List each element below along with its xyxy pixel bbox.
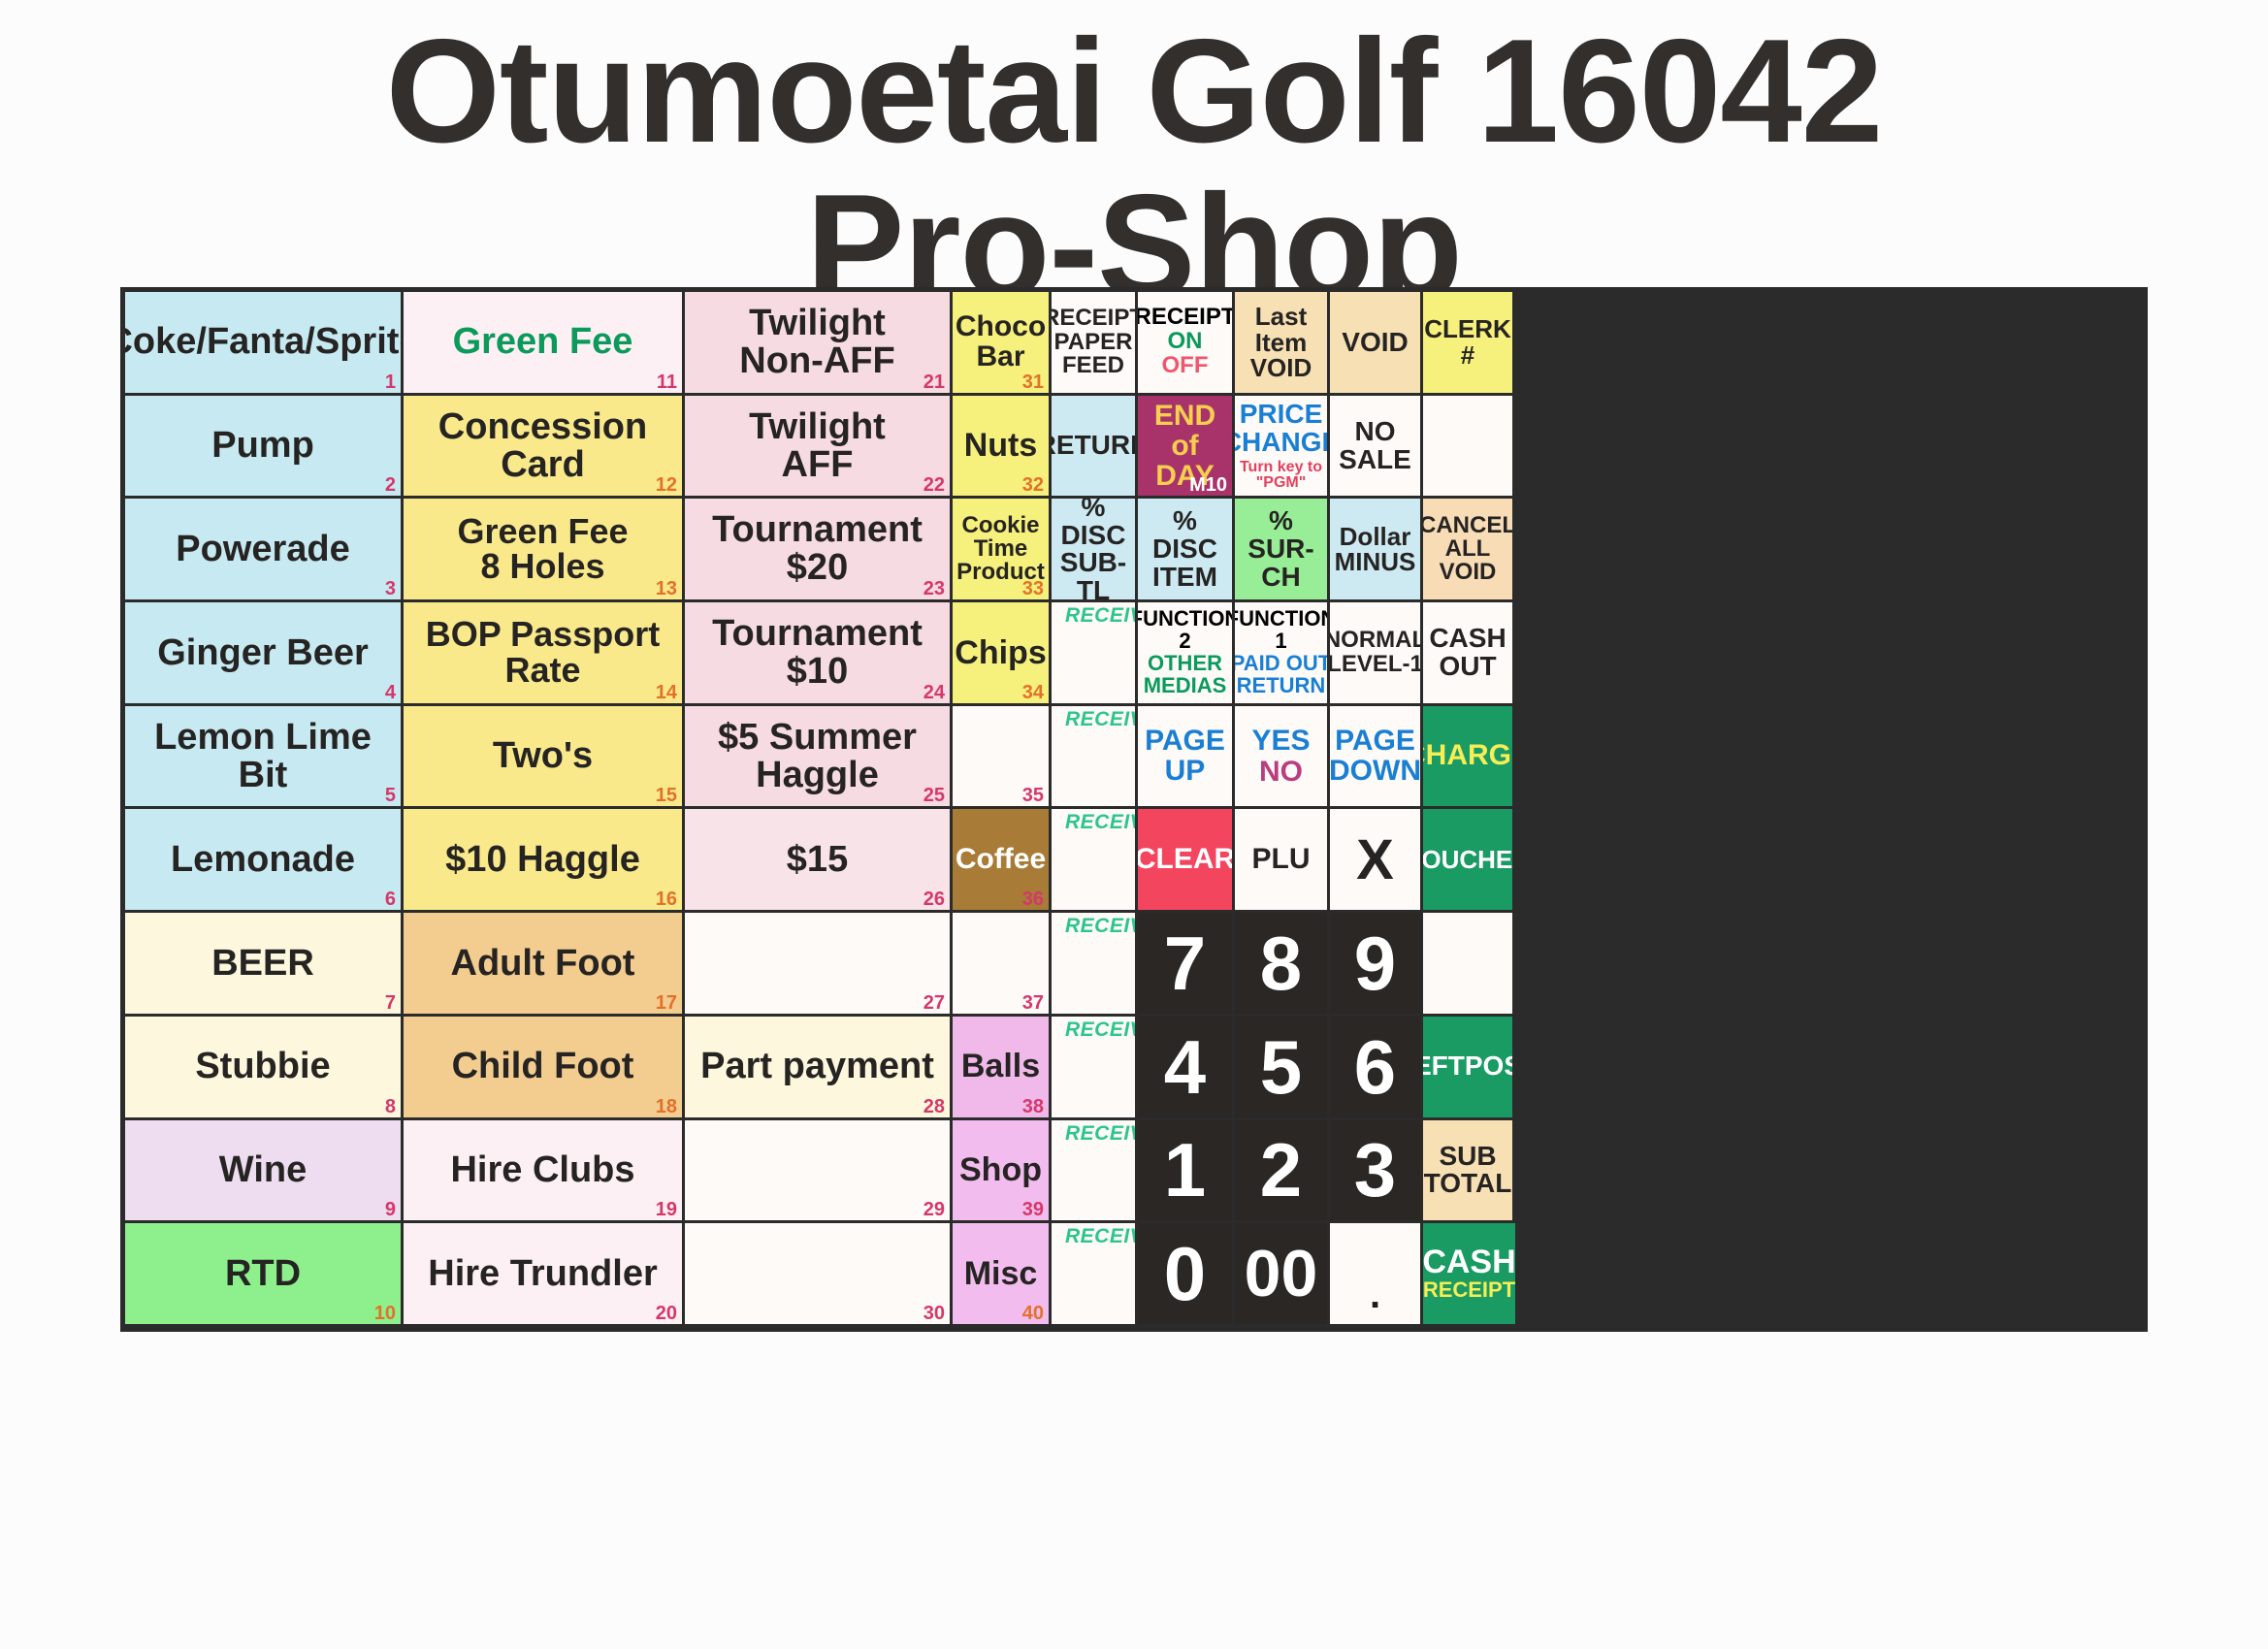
key-numpad-4[interactable]: 4: [1138, 1017, 1235, 1120]
key-label: % SUR-CH: [1238, 507, 1324, 591]
key-label: Green Fee 8 Holes: [457, 514, 628, 585]
key-label-line2: NO: [1259, 757, 1303, 787]
key-powerade[interactable]: Powerade 3: [125, 499, 404, 602]
key-cash-out[interactable]: CASH OUT: [1423, 602, 1515, 706]
key-label: NO SALE: [1339, 418, 1411, 473]
key-number: 7: [385, 993, 396, 1013]
key-lemon-lime-bitters[interactable]: Lemon Lime Bit 5: [125, 706, 404, 810]
key-return[interactable]: RETURN: [1052, 396, 1138, 500]
key-label: 6: [1354, 1029, 1396, 1105]
key-number: 18: [656, 1097, 677, 1116]
key-number: 20: [656, 1304, 677, 1323]
key-label-line3: PAID OUT: [1235, 653, 1330, 675]
key-label: Balls: [961, 1050, 1040, 1083]
key-adult-foot[interactable]: Adult Foot 17: [404, 913, 685, 1017]
key-label: Choco Bar: [956, 312, 1046, 372]
key-label: % DISC ITEM: [1152, 507, 1217, 591]
key-price-change[interactable]: PRICE CHANGE Turn key to "PGM": [1235, 396, 1330, 500]
key-sub-total[interactable]: SUB TOTAL: [1423, 1120, 1515, 1224]
key-number: 37: [1022, 993, 1044, 1013]
received-label: RECEIVED: [1065, 1019, 1138, 1040]
key-number: 23: [923, 579, 945, 598]
key-bop-passport-rate[interactable]: BOP Passport Rate 14: [404, 602, 685, 706]
page-title: Otumoetai Golf 16042 Pro-Shop: [0, 17, 2268, 320]
key-label: 5: [1260, 1029, 1302, 1105]
key-number: 16: [656, 889, 677, 909]
key-label: Lemon Lime Bit: [128, 719, 398, 794]
key-receipt-on-off[interactable]: RECEIPT ON OFF: [1138, 292, 1235, 396]
key-number: 28: [923, 1097, 945, 1116]
key-decimal-point[interactable]: .: [1330, 1223, 1423, 1327]
key-normal-level-1[interactable]: NORMAL LEVEL-1: [1330, 602, 1423, 706]
key-label: $10 Haggle: [445, 841, 640, 879]
key-label: EFTPOS: [1423, 1052, 1515, 1081]
key-label: 9: [1354, 925, 1396, 1001]
key-cookie-time-product[interactable]: Cookie Time Product 33: [953, 499, 1052, 602]
key-label: NORMAL LEVEL-1: [1330, 629, 1423, 676]
key-numpad-2[interactable]: 2: [1235, 1120, 1330, 1224]
key-numpad-9[interactable]: 9: [1330, 913, 1423, 1017]
key-label: CASH OUT: [1429, 625, 1506, 680]
pos-keyboard-page: Otumoetai Golf 16042 Pro-Shop Coke/Fanta…: [0, 0, 2268, 1649]
key-number: 33: [1022, 579, 1044, 598]
received-label: RECEIVED: [1065, 709, 1138, 729]
key-label: Part payment: [700, 1048, 934, 1085]
key-number: 2: [385, 475, 396, 495]
key-label: Tournament $20: [712, 511, 923, 587]
key-number: 15: [656, 786, 677, 805]
key-label-line1: FUNCTION: [1235, 608, 1330, 630]
key-number: 1: [385, 372, 396, 392]
key-numpad-double-zero[interactable]: 00: [1235, 1223, 1330, 1327]
key-label: 00: [1245, 1241, 1318, 1307]
key-numpad-7[interactable]: 7: [1138, 913, 1235, 1017]
key-lemonade[interactable]: Lemonade 6: [125, 809, 404, 913]
key-numpad-0[interactable]: 0: [1138, 1223, 1235, 1327]
key-hire-trundler[interactable]: Hire Trundler 20: [404, 1223, 685, 1327]
key-function-2-other-medias[interactable]: FUNCTION 2 OTHER MEDIAS: [1138, 602, 1235, 706]
key-label: Shop: [959, 1153, 1042, 1187]
key-yes-no[interactable]: YES NO: [1235, 706, 1330, 810]
key-label: BOP Passport Rate: [426, 617, 660, 688]
key-label-line1: RECEIPT: [1138, 306, 1235, 330]
title-line-1: Otumoetai Golf 16042: [0, 17, 2268, 165]
key-blank-30[interactable]: 30: [685, 1223, 953, 1327]
key-label: CHARGE: [1423, 741, 1515, 771]
key-number: 39: [1022, 1200, 1044, 1219]
key-number: 4: [385, 683, 396, 702]
key-label: Wine: [219, 1151, 307, 1189]
key-label: Hire Clubs: [450, 1151, 634, 1189]
key-multiply[interactable]: X: [1330, 809, 1423, 913]
key-twilight-non-aff[interactable]: Twilight Non-AFF 21: [685, 292, 953, 396]
key-label: Last Item VOID: [1238, 304, 1324, 381]
key-number: 17: [656, 993, 677, 1013]
key-percent-surcharge[interactable]: % SUR-CH: [1235, 499, 1330, 602]
key-label: Tournament $10: [712, 615, 923, 691]
key-label-line4: MEDIAS: [1144, 675, 1227, 697]
key-concession-card[interactable]: Concession Card 12: [404, 396, 685, 500]
key-label: 2: [1260, 1132, 1302, 1208]
key-label: Concession Card: [406, 408, 679, 484]
key-number: 24: [923, 683, 945, 702]
key-cancel-all-void[interactable]: CANCEL ALL VOID: [1423, 499, 1515, 602]
key-label: Pump: [211, 427, 314, 465]
key-ginger-beer[interactable]: Ginger Beer 4: [125, 602, 404, 706]
key-numpad-8[interactable]: 8: [1235, 913, 1330, 1017]
key-number: 8: [385, 1097, 396, 1116]
key-number: 25: [923, 786, 945, 805]
key-label: Cookie Time Product: [956, 514, 1045, 585]
key-number: 22: [923, 475, 945, 495]
key-green-fee[interactable]: Green Fee 11: [404, 292, 685, 396]
key-number: 12: [656, 475, 677, 495]
key-label: Child Foot: [452, 1048, 634, 1085]
key-10-haggle[interactable]: $10 Haggle 16: [404, 809, 685, 913]
key-page-up[interactable]: PAGE UP: [1138, 706, 1235, 810]
key-number: 27: [923, 993, 945, 1013]
key-page-down[interactable]: PAGE DOWN: [1330, 706, 1423, 810]
key-label-line2: 1: [1275, 630, 1286, 653]
key-received-10[interactable]: RECEIVED $ 10: [1052, 1120, 1138, 1224]
key-number: 19: [656, 1200, 677, 1219]
key-label: Coffee: [956, 845, 1046, 875]
key-number: 34: [1022, 683, 1044, 702]
key-number: 14: [656, 683, 677, 702]
key-label: PLU: [1252, 845, 1311, 875]
key-label: 4: [1164, 1029, 1206, 1105]
key-blank-35[interactable]: 35: [953, 706, 1052, 810]
key-label: Dollar MINUS: [1335, 524, 1416, 575]
key-label: 8: [1260, 925, 1302, 1001]
key-label: SUB TOTAL: [1424, 1143, 1512, 1198]
key-last-item-void[interactable]: Last Item VOID: [1235, 292, 1330, 396]
key-misc[interactable]: Misc 40: [953, 1223, 1052, 1327]
key-voucher[interactable]: VOUCHER: [1423, 809, 1515, 913]
key-label: 1: [1164, 1132, 1206, 1208]
received-label: RECEIVED: [1065, 1226, 1138, 1246]
key-clerk-number[interactable]: CLERK #: [1423, 292, 1515, 396]
received-label: RECEIVED: [1065, 916, 1138, 936]
key-number: 26: [923, 889, 945, 909]
key-15[interactable]: $15 26: [685, 809, 953, 913]
key-label: RECEIPT PAPER FEED: [1052, 307, 1138, 377]
key-label-line1: YES: [1251, 726, 1310, 756]
key-label: CLEAR: [1138, 845, 1235, 875]
key-percent-disc-item[interactable]: % DISC ITEM: [1138, 499, 1235, 602]
key-label: .: [1370, 1276, 1380, 1314]
key-label: Powerade: [176, 531, 350, 568]
key-label: X: [1356, 831, 1394, 889]
key-5-summer-haggle[interactable]: $5 Summer Haggle 25: [685, 706, 953, 810]
key-label: Adult Foot: [451, 945, 635, 983]
key-balls[interactable]: Balls 38: [953, 1017, 1052, 1120]
key-numpad-3[interactable]: 3: [1330, 1120, 1423, 1224]
key-label: Green Fee: [453, 323, 633, 361]
key-numpad-6[interactable]: 6: [1330, 1017, 1423, 1120]
key-label: Twilight Non-AFF: [739, 305, 894, 380]
key-chips[interactable]: Chips 34: [953, 602, 1052, 706]
key-label-line3: OFF: [1162, 354, 1209, 378]
key-number: 6: [385, 889, 396, 909]
key-label: Two's: [493, 737, 593, 775]
key-numpad-1[interactable]: 1: [1138, 1120, 1235, 1224]
key-label: Chips: [955, 636, 1046, 670]
key-received-40[interactable]: RECEIVED $ 40: [1052, 809, 1138, 913]
key-number: 11: [657, 372, 677, 392]
key-plu[interactable]: PLU: [1235, 809, 1330, 913]
key-label-line1: END of: [1141, 401, 1229, 461]
key-label-line2: ON: [1168, 330, 1203, 354]
key-received-5[interactable]: RECEIVED $ 5: [1052, 1223, 1138, 1327]
key-function-1-paid-out-return[interactable]: FUNCTION 1 PAID OUT RETURN: [1235, 602, 1330, 706]
key-label: VOUCHER: [1423, 847, 1515, 873]
key-receipt-paper-feed[interactable]: RECEIPT PAPER FEED: [1052, 292, 1138, 396]
key-hire-clubs[interactable]: Hire Clubs 19: [404, 1120, 685, 1224]
key-number: 36: [1022, 889, 1044, 909]
key-number: 21: [923, 372, 945, 392]
key-number: 29: [923, 1200, 945, 1219]
key-label: Ginger Beer: [157, 634, 369, 672]
key-eftpos[interactable]: EFTPOS: [1423, 1017, 1515, 1120]
key-number: 31: [1022, 372, 1044, 392]
key-label-line1: PRICE: [1240, 400, 1323, 428]
key-received-50[interactable]: RECEIVED $ 50: [1052, 706, 1138, 810]
key-number: 3: [385, 579, 396, 598]
key-label: BEER: [211, 945, 314, 983]
key-label: $5 Summer Haggle: [718, 719, 917, 794]
key-part-payment[interactable]: Part payment 28: [685, 1017, 953, 1120]
key-label: Nuts: [964, 429, 1038, 463]
key-label-line3: OTHER: [1148, 653, 1222, 675]
key-label: % DISC SUB-TL: [1054, 499, 1132, 602]
key-label: CLERK #: [1424, 316, 1511, 368]
key-shop[interactable]: Shop 39: [953, 1120, 1052, 1224]
key-received-20[interactable]: RECEIVED $ 20: [1052, 1017, 1138, 1120]
key-cash-receipt[interactable]: CASH RECEIPT: [1423, 1223, 1515, 1327]
key-label-line2: CHANGE: [1235, 428, 1330, 456]
key-label: Stubbie: [195, 1048, 330, 1085]
key-blank-37[interactable]: 37: [953, 913, 1052, 1017]
key-blank-29[interactable]: 29: [685, 1120, 953, 1224]
key-pump[interactable]: Pump 2: [125, 396, 404, 500]
key-charge[interactable]: CHARGE: [1423, 706, 1515, 810]
key-stubbie[interactable]: Stubbie 8: [125, 1017, 404, 1120]
key-label-line2: RECEIPT: [1423, 1279, 1515, 1302]
key-label: $15: [787, 841, 848, 879]
key-label: RTD: [225, 1255, 301, 1293]
keyboard-grid: Coke/Fanta/Sprite 1 Green Fee 11 Twiligh…: [120, 287, 2148, 1332]
key-label: RETURN: [1052, 432, 1138, 460]
key-tournament-10[interactable]: Tournament $10 24: [685, 602, 953, 706]
key-number: 9: [385, 1200, 396, 1219]
key-dollar-minus[interactable]: Dollar MINUS: [1330, 499, 1423, 602]
key-number: 38: [1022, 1097, 1044, 1116]
key-twos[interactable]: Two's 15: [404, 706, 685, 810]
key-clear[interactable]: CLEAR: [1138, 809, 1235, 913]
key-number: 40: [1022, 1304, 1044, 1323]
key-void[interactable]: VOID: [1330, 292, 1423, 396]
received-label: RECEIVED: [1065, 1123, 1138, 1144]
key-blank-27[interactable]: 27: [685, 913, 953, 1017]
key-label-line2: 2: [1179, 630, 1190, 653]
key-label-line4: RETURN: [1237, 675, 1326, 697]
key-label: Coke/Fanta/Sprite: [125, 323, 404, 361]
key-label: Hire Trundler: [428, 1255, 658, 1293]
key-blank-r7[interactable]: [1423, 913, 1515, 1017]
received-label: RECEIVED: [1065, 605, 1138, 626]
key-number: 32: [1022, 475, 1044, 495]
key-rtd[interactable]: RTD 10: [125, 1223, 404, 1327]
key-number: 5: [385, 786, 396, 805]
key-label: Misc: [964, 1257, 1038, 1291]
key-tournament-20[interactable]: Tournament $20 23: [685, 499, 953, 602]
key-label: PAGE DOWN: [1330, 727, 1421, 786]
key-label: PAGE UP: [1145, 727, 1225, 786]
key-no-sale[interactable]: NO SALE: [1330, 396, 1423, 500]
key-label: 3: [1354, 1132, 1396, 1208]
key-number: 30: [923, 1304, 945, 1323]
key-twilight-aff[interactable]: Twilight AFF 22: [685, 396, 953, 500]
key-label-hint: Turn key to "PGM": [1235, 460, 1330, 492]
key-label-line1: CASH: [1423, 1245, 1515, 1279]
key-green-fee-8-holes[interactable]: Green Fee 8 Holes 13: [404, 499, 685, 602]
received-label: RECEIVED: [1065, 812, 1138, 832]
key-received-100[interactable]: RECEIVED $ 100: [1052, 602, 1138, 706]
key-child-foot[interactable]: Child Foot 18: [404, 1017, 685, 1120]
key-blank-r2[interactable]: [1423, 396, 1515, 500]
key-number: 10: [374, 1304, 396, 1323]
key-label: VOID: [1342, 329, 1408, 357]
key-label: Twilight AFF: [749, 408, 886, 484]
key-label-line1: FUNCTION: [1138, 608, 1235, 630]
key-beer[interactable]: BEER 7: [125, 913, 404, 1017]
key-end-of-day[interactable]: END of DAY M10: [1138, 396, 1235, 500]
key-number: 13: [656, 579, 677, 598]
key-nuts[interactable]: Nuts 32: [953, 396, 1052, 500]
key-coffee[interactable]: Coffee 36: [953, 809, 1052, 913]
key-wine[interactable]: Wine 9: [125, 1120, 404, 1224]
key-label: 0: [1164, 1236, 1206, 1311]
key-number: 35: [1022, 786, 1044, 805]
key-received-30[interactable]: RECEIVED $ 30: [1052, 913, 1138, 1017]
key-choco-bar[interactable]: Choco Bar 31: [953, 292, 1052, 396]
key-percent-disc-subtotal[interactable]: % DISC SUB-TL: [1052, 499, 1138, 602]
key-badge-m10: M10: [1189, 475, 1227, 495]
key-label: Lemonade: [171, 841, 355, 879]
key-label: 7: [1164, 925, 1206, 1001]
key-label: CANCEL ALL VOID: [1423, 514, 1515, 585]
key-coke-fanta-sprite[interactable]: Coke/Fanta/Sprite 1: [125, 292, 404, 396]
key-numpad-5[interactable]: 5: [1235, 1017, 1330, 1120]
